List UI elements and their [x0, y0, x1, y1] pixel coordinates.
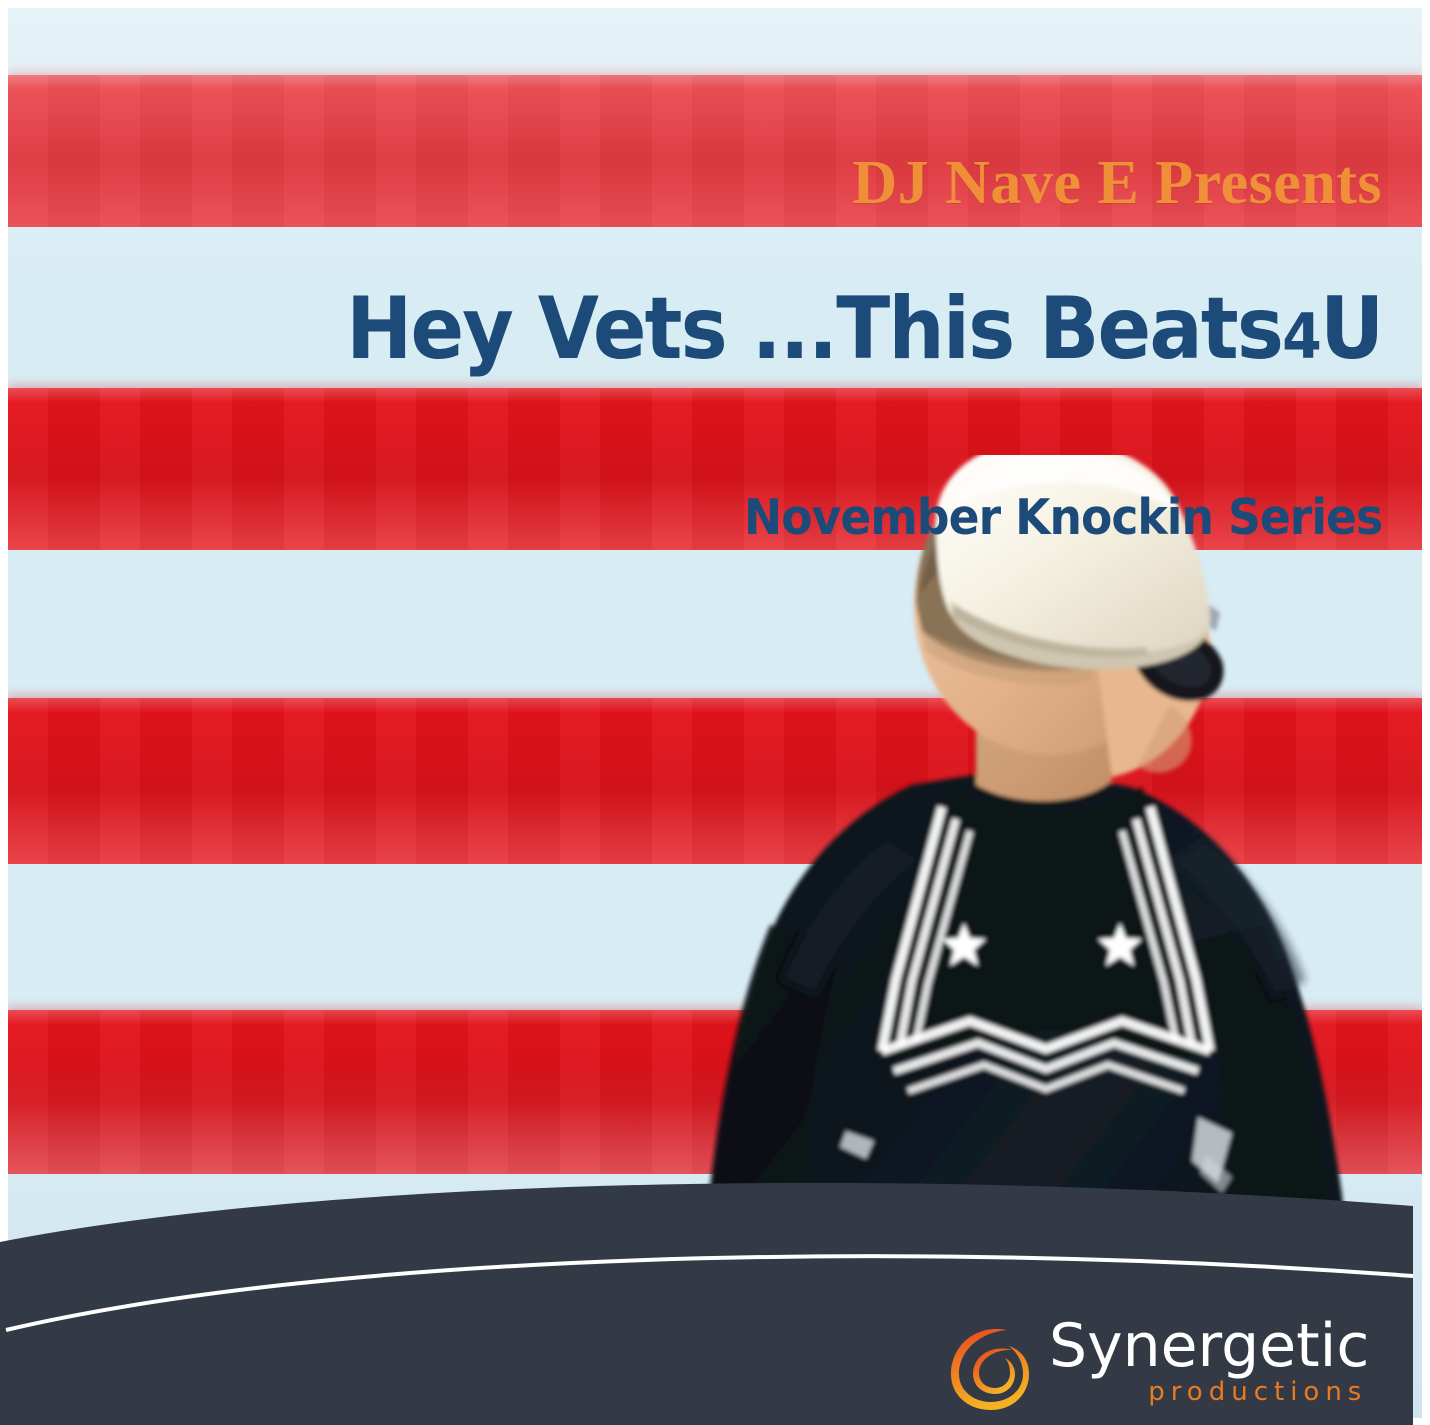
series-subtitle: November Knockin Series [744, 489, 1382, 546]
logo-tagline: productions [1148, 1377, 1367, 1407]
headline-main: Hey Vets ...This Beats [346, 279, 1282, 379]
flag-stripe-white-0 [8, 8, 1422, 75]
presenter-line: DJ Nave E Presents [852, 148, 1382, 219]
headline-title: Hey Vets ...This Beats4U [346, 286, 1382, 372]
logo-name: Synergetic [1049, 1318, 1369, 1375]
synergetic-swirl-icon [947, 1320, 1033, 1412]
sailor-collar-flap [882, 787, 1210, 1091]
poster-canvas: DJ Nave E Presents Hey Vets ...This Beat… [0, 0, 1430, 1425]
headline-number: 4 [1282, 300, 1320, 373]
logo-wordmark: Synergetic productions [1049, 1318, 1369, 1407]
sailor-photo [650, 455, 1410, 1270]
sailor-cap [936, 455, 1210, 669]
headline-tail: U [1320, 279, 1382, 379]
synergetic-logo: Synergetic productions [947, 1318, 1369, 1412]
